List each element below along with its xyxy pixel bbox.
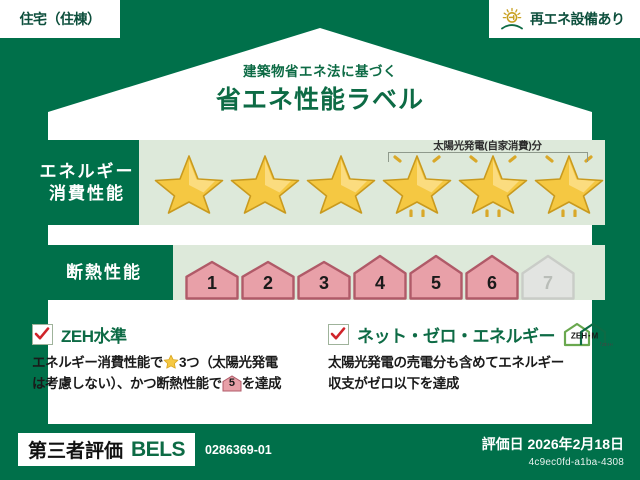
zeh-standard-section: ZEH水準 エネルギー消費性能で3つ（太陽光発電 は考慮しない）、かつ断熱性能で… (32, 322, 314, 395)
title-subtitle: 建築物省エネ法に基づく (0, 60, 640, 80)
insulation-grade-badge: 2 (241, 260, 295, 300)
zeh-desc-part1: エネルギー消費性能で (32, 355, 163, 370)
insulation-grade-badge: 3 (297, 260, 351, 300)
solar-range-bracket (388, 152, 588, 162)
solar-self-consumption-note: 太陽光発電(自家消費)分 (385, 138, 590, 153)
insulation-performance-row: 断熱性能 1 2 3 4 5 6 7 (35, 245, 605, 300)
zeh-desc-part3: は考慮しない）、かつ断熱性能で (32, 376, 222, 391)
insulation-performance-value: 1 2 3 4 5 6 7 (173, 245, 605, 300)
insulation-key-label: 断熱性能 (66, 262, 142, 283)
evaluation-date: 評価日 2026年2月18日 (482, 434, 624, 454)
net-zero-energy-header: ネット・ゼロ・エネルギー ZEH･M 「ZEH-M」 (328, 322, 610, 346)
insulation-grade-badge: 4 (353, 254, 407, 300)
inline-grade-value: 5 (222, 375, 242, 392)
insulation-grade-value: 2 (241, 273, 295, 294)
evaluation-info: 評価日 2026年2月18日 4c9ec0fd-a1ba-4308 (482, 434, 624, 468)
insulation-grade-badge: 7 (521, 254, 575, 300)
renewable-equipment-label: 再エネ設備あり (530, 9, 625, 29)
renewable-equipment-badge: 再エネ設備あり (489, 0, 640, 38)
insulation-grade-badge: 6 (465, 254, 519, 300)
star-icon (305, 149, 377, 217)
zeh-desc-part4: を達成 (242, 376, 281, 391)
bels-footer: 第三者評価 BELS 0286369-01 (18, 433, 272, 466)
bels-badge: 第三者評価 BELS (18, 433, 195, 466)
sun-solar-icon (499, 7, 525, 31)
energy-key-line2: 消費性能 (49, 183, 125, 204)
insulation-grade-scale: 1 2 3 4 5 6 7 (173, 245, 575, 300)
insulation-performance-key: 断熱性能 (35, 245, 173, 300)
nze-desc-line2: 収支がゼロ以下を達成 (328, 376, 459, 391)
net-zero-energy-section: ネット・ゼロ・エネルギー ZEH･M 「ZEH-M」 太陽光発電の売電分も含めて… (328, 322, 610, 395)
zeh-standard-title: ZEH水準 (61, 322, 127, 347)
svg-text:ZEH･M: ZEH･M (571, 331, 598, 340)
check-icon (328, 324, 349, 345)
insulation-grade-value: 7 (521, 273, 575, 294)
zeh-standard-header: ZEH水準 (32, 322, 314, 346)
building-type-label: 住宅（住棟） (20, 9, 101, 29)
star-icon (153, 149, 225, 217)
zeh-standard-description: エネルギー消費性能で3つ（太陽光発電 は考慮しない）、かつ断熱性能で5を達成 (32, 353, 314, 395)
insulation-grade-badge: 5 (409, 254, 463, 300)
energy-performance-key: エネルギー 消費性能 (35, 140, 139, 225)
building-type-tab: 住宅（住棟） (0, 0, 120, 38)
energy-key-line1: エネルギー (40, 161, 135, 182)
svg-text:「ZEH-M」: 「ZEH-M」 (597, 342, 613, 347)
insulation-grade-value: 3 (297, 273, 351, 294)
bels-en-label: BELS (131, 438, 185, 462)
energy-performance-label: 住宅（住棟） 再エネ設備あり 建築物省エネ法に基づく 省エ (0, 0, 640, 480)
inline-star-icon (163, 354, 179, 370)
insulation-grade-value: 5 (409, 273, 463, 294)
evaluation-hash: 4c9ec0fd-a1ba-4308 (482, 457, 624, 468)
page-title: 省エネ性能ラベル (0, 80, 640, 116)
inline-grade-badge: 5 (222, 375, 242, 392)
nze-desc-line1: 太陽光発電の売電分も含めてエネルギー (328, 355, 564, 370)
zeh-m-logo-icon: ZEH･M 「ZEH-M」 (561, 321, 613, 348)
net-zero-energy-description: 太陽光発電の売電分も含めてエネルギー 収支がゼロ以下を達成 (328, 353, 610, 395)
check-icon (32, 324, 53, 345)
insulation-grade-value: 6 (465, 273, 519, 294)
bels-jp-label: 第三者評価 (28, 436, 123, 463)
insulation-grade-value: 1 (185, 273, 239, 294)
star-icon (229, 149, 301, 217)
bels-certificate-number: 0286369-01 (205, 443, 272, 457)
zeh-desc-part2: 3つ（太陽光発電 (179, 355, 278, 370)
net-zero-energy-title: ネット・ゼロ・エネルギー (357, 322, 555, 347)
insulation-grade-value: 4 (353, 273, 407, 294)
insulation-grade-badge: 1 (185, 260, 239, 300)
